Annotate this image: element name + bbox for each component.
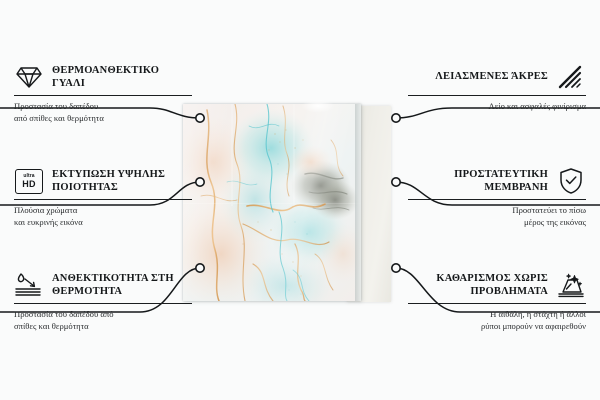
feature-description: Προστασία του δαπέδου από σπίθες και θερ… — [14, 308, 192, 333]
feature-divider — [14, 303, 192, 304]
ultra-hd-badge-icon: ultra HD — [14, 166, 44, 196]
feature-description-line-1: Προστατεύει το πίσω — [408, 204, 586, 216]
feature-description-line-2: σπίθες και θερμότητα — [14, 320, 192, 332]
feature-divider — [14, 95, 192, 96]
feature-header: ΠΡΟΣΤΑΤΕΥΤΙΚΗ ΜΕΜΒΡΑΝΗ — [408, 166, 586, 196]
feature-divider — [408, 303, 586, 304]
feature-title: ΛΕΙΑΣΜΕΝΕΣ ΆΚΡΕΣ — [435, 70, 548, 83]
feature-description-line-2: από σπίθες και θερμότητα — [14, 112, 192, 124]
feature-description-line-2: και ευκρινής εικόνα — [14, 216, 192, 228]
feature-easy-cleaning: ΚΑΘΑΡΙΣΜΟΣ ΧΩΡΙΣ ΠΡΟΒΛΗΜΑΤΑ Η αιθάλη, η … — [408, 270, 586, 333]
feature-description-line-1: Προστασία του δαπέδου από — [14, 308, 192, 320]
feature-protective-membrane: ΠΡΟΣΤΑΤΕΥΤΙΚΗ ΜΕΜΒΡΑΝΗ Προστατεύει το πί… — [408, 166, 586, 229]
ultra-hd-top-label: ultra — [23, 174, 34, 179]
connector-dot-right-2 — [392, 178, 400, 186]
feature-divider — [408, 199, 586, 200]
marble-artwork — [183, 104, 361, 301]
feature-polished-edges: ΛΕΙΑΣΜΕΝΕΣ ΆΚΡΕΣ Λείο και ασφαλές φινίρι… — [408, 62, 586, 112]
feature-divider — [14, 199, 192, 200]
product-glass-panel — [183, 104, 361, 301]
feature-header: ΘΕΡΜΟΑΝΘΕΚΤΙΚΟ ΓΥΑΛΙ — [14, 62, 192, 92]
connector-dot-right-3 — [392, 264, 400, 272]
feature-description-line-2: ρύποι μπορούν να αφαιρεθούν — [408, 320, 586, 332]
infographic-canvas: ΘΕΡΜΟΑΝΘΕΚΤΙΚΟ ΓΥΑΛΙ Προστασία του δαπέδ… — [0, 0, 600, 400]
feature-description: Προστατεύει το πίσω μέρος της εικόνας — [408, 204, 586, 229]
feature-high-quality-print: ultra HD ΕΚΤΥΠΩΣΗ ΥΨΗΛΗΣ ΠΟΙΟΤΗΤΑΣ Πλούσ… — [14, 166, 192, 229]
feature-header: ultra HD ΕΚΤΥΠΩΣΗ ΥΨΗΛΗΣ ΠΟΙΟΤΗΤΑΣ — [14, 166, 192, 196]
feature-header: ΑΝΘΕΚΤΙΚΟΤΗΤΑ ΣΤΗ ΘΕΡΜΟΤΗΤΑ — [14, 270, 192, 300]
feature-description: Πλούσια χρώματα και ευκρινής εικόνα — [14, 204, 192, 229]
feature-description-line-1: Η αιθάλη, η στάχτη ή άλλοι — [408, 308, 586, 320]
feature-title: ΚΑΘΑΡΙΣΜΟΣ ΧΩΡΙΣ ΠΡΟΒΛΗΜΑΤΑ — [408, 272, 548, 299]
feature-description-line-2: μέρος της εικόνας — [408, 216, 586, 228]
shield-check-icon — [556, 166, 586, 196]
feature-title: ΠΡΟΣΤΑΤΕΥΤΙΚΗ ΜΕΜΒΡΑΝΗ — [408, 168, 548, 195]
feature-description-line-1: Λείο και ασφαλές φινίρισμα — [408, 100, 586, 112]
feature-description: Λείο και ασφαλές φινίρισμα — [408, 100, 586, 112]
feature-description: Προστασία του δαπέδου από σπίθες και θερ… — [14, 100, 192, 125]
feature-description-line-1: Προστασία του δαπέδου — [14, 100, 192, 112]
feature-heat-durability: ΑΝΘΕΚΤΙΚΟΤΗΤΑ ΣΤΗ ΘΕΡΜΟΤΗΤΑ Προστασία το… — [14, 270, 192, 333]
feature-header: ΚΑΘΑΡΙΣΜΟΣ ΧΩΡΙΣ ΠΡΟΒΛΗΜΑΤΑ — [408, 270, 586, 300]
feature-description: Η αιθάλη, η στάχτη ή άλλοι ρύποι μπορούν… — [408, 308, 586, 333]
feature-description-line-1: Πλούσια χρώματα — [14, 204, 192, 216]
easy-clean-sparkle-icon — [556, 270, 586, 300]
product-image — [183, 104, 380, 302]
ultra-hd-main-label: HD — [22, 180, 35, 189]
feature-title: ΕΚΤΥΠΩΣΗ ΥΨΗΛΗΣ ΠΟΙΟΤΗΤΑΣ — [52, 168, 192, 195]
flame-heat-resistance-icon — [14, 270, 44, 300]
feature-header: ΛΕΙΑΣΜΕΝΕΣ ΆΚΡΕΣ — [408, 62, 586, 92]
glass-right-edge — [355, 104, 361, 301]
feature-title: ΘΕΡΜΟΑΝΘΕΚΤΙΚΟ ΓΥΑΛΙ — [52, 64, 192, 91]
feature-heat-resistant-glass: ΘΕΡΜΟΑΝΘΕΚΤΙΚΟ ΓΥΑΛΙ Προστασία του δαπέδ… — [14, 62, 192, 125]
connector-dot-right-1 — [392, 114, 400, 122]
polished-edges-icon — [556, 62, 586, 92]
diamond-icon — [14, 62, 44, 92]
feature-divider — [408, 95, 586, 96]
feature-title: ΑΝΘΕΚΤΙΚΟΤΗΤΑ ΣΤΗ ΘΕΡΜΟΤΗΤΑ — [52, 272, 192, 299]
